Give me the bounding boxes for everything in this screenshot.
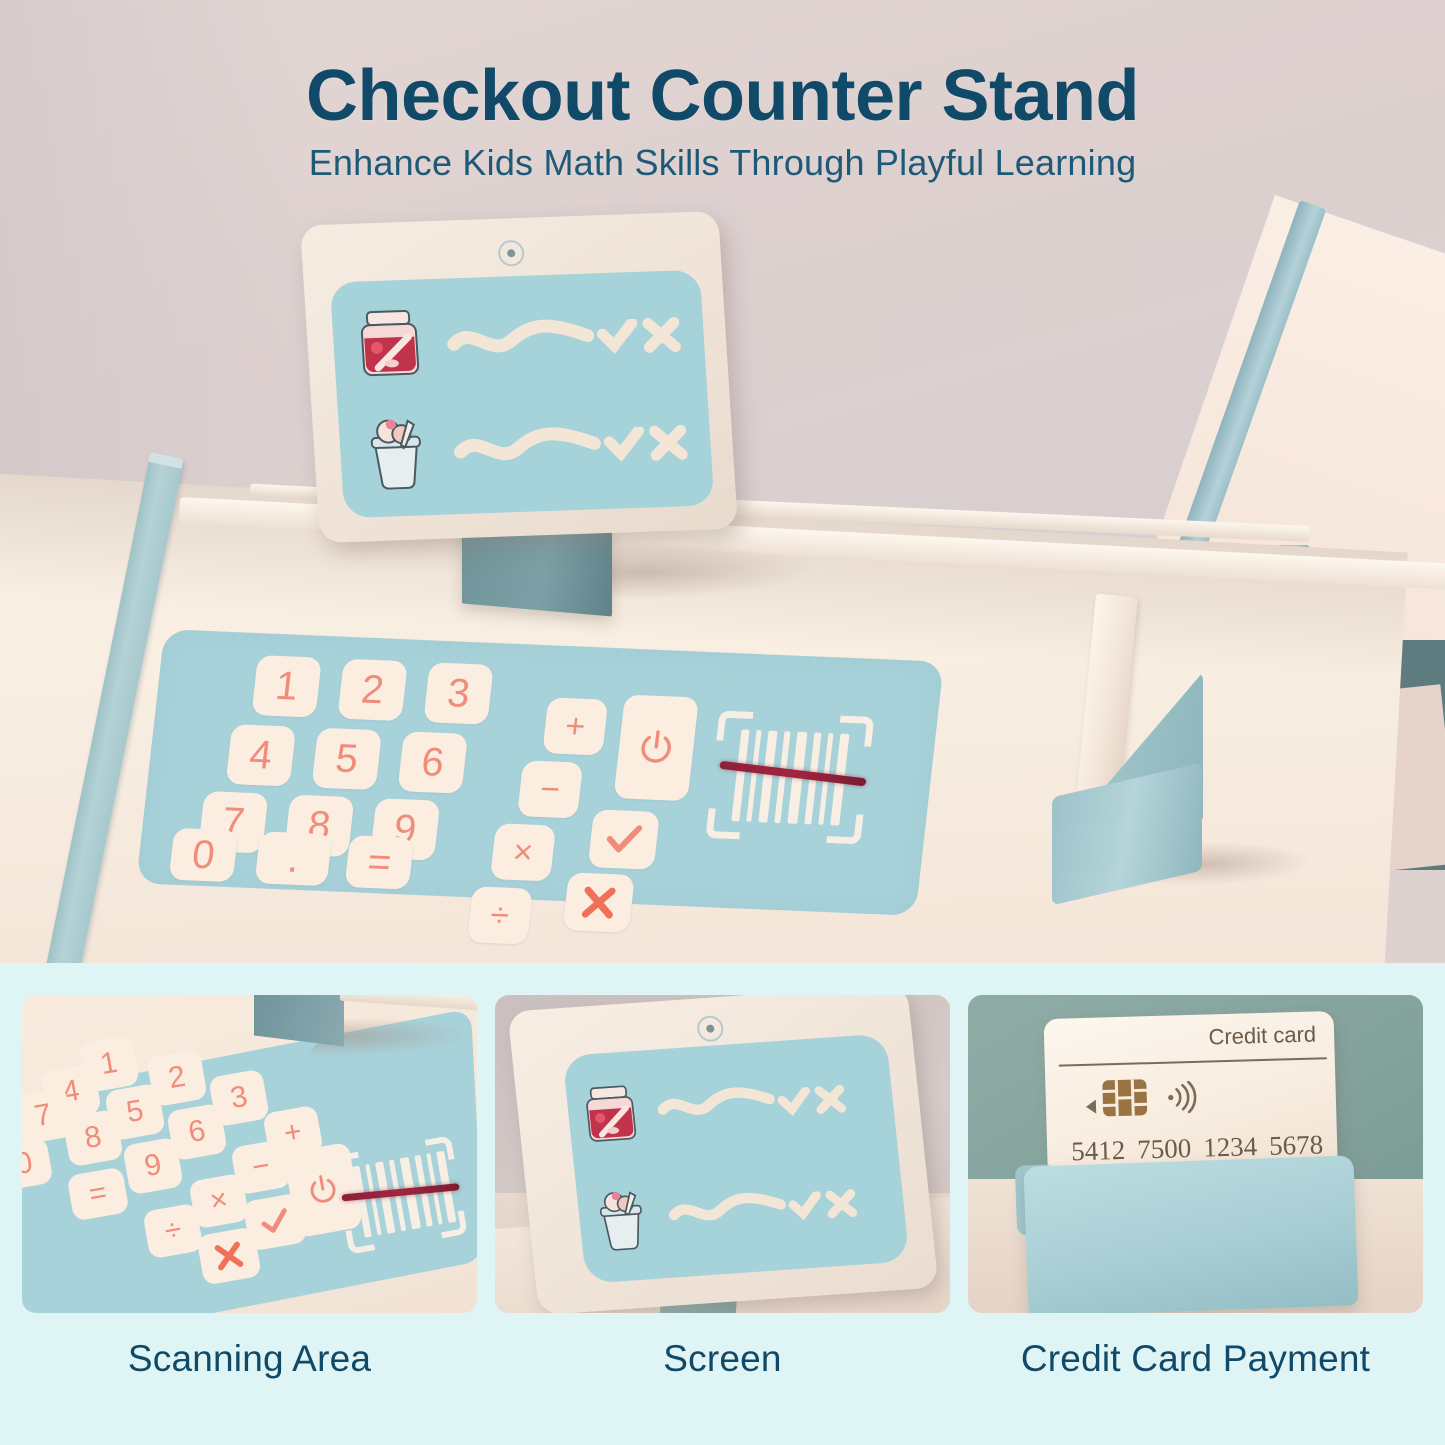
hero-photo: 1 2 3 4 5 6 7 8 9 0 . = + − × ÷	[0, 0, 1445, 963]
thumbnail-screen[interactable]	[495, 995, 950, 1313]
x-mark-icon	[639, 316, 685, 353]
caption-credit-card-payment: Credit Card Payment	[968, 1338, 1423, 1380]
emv-chip-icon	[1101, 1078, 1148, 1122]
t2-register-screen	[507, 995, 938, 1313]
check-mark-icon	[595, 319, 641, 354]
credit-card-rule	[1059, 1057, 1327, 1066]
feature-strip: 1 2 3 4 5 6 7 8 9 0 = + − × ÷	[0, 963, 1445, 1445]
jam-jar-icon	[572, 1081, 650, 1148]
price-squiggle	[451, 425, 603, 470]
camera-dot-icon	[696, 1015, 725, 1043]
price-squiggle	[444, 317, 596, 362]
t1-key-8: 8	[62, 1109, 124, 1168]
cancel-button[interactable]	[562, 872, 634, 933]
thumbnail-credit-card-payment[interactable]: Credit card	[968, 995, 1423, 1313]
page-subtitle: Enhance Kids Math Skills Through Playful…	[0, 142, 1445, 184]
confirm-button[interactable]	[588, 809, 660, 870]
key-2[interactable]: 2	[337, 659, 408, 721]
card-holder	[1023, 1155, 1358, 1313]
cross-icon	[579, 885, 619, 920]
thumbnail-scanning-area[interactable]: 1 2 3 4 5 6 7 8 9 0 = + − × ÷	[22, 995, 477, 1313]
cross-icon	[212, 1240, 246, 1273]
page-title: Checkout Counter Stand	[0, 58, 1445, 136]
power-icon	[634, 727, 678, 769]
check-mark-icon	[775, 1087, 814, 1117]
key-5[interactable]: 5	[311, 728, 382, 790]
key-3[interactable]: 3	[423, 662, 494, 724]
screen-row	[574, 1147, 908, 1274]
check-icon	[602, 823, 646, 857]
contactless-icon	[1165, 1081, 1200, 1119]
ice-cream-cup-icon	[348, 414, 445, 491]
key-multiply[interactable]: ×	[490, 823, 556, 881]
screen-row	[337, 387, 714, 508]
key-6[interactable]: 6	[397, 731, 468, 793]
keypad-panel[interactable]: 1 2 3 4 5 6 7 8 9 0 . = + − × ÷	[136, 629, 944, 916]
power-button[interactable]	[613, 694, 699, 801]
card-number-group: 5412	[1071, 1135, 1126, 1167]
key-1[interactable]: 1	[251, 655, 322, 717]
caption-row: Scanning Area Screen Credit Card Payment	[22, 1338, 1423, 1380]
t2-screen-display	[562, 1033, 909, 1283]
x-mark-icon	[822, 1188, 861, 1220]
key-minus[interactable]: −	[517, 760, 583, 818]
key-decimal[interactable]: .	[255, 831, 333, 886]
x-mark-icon	[645, 424, 691, 461]
screen-row	[330, 279, 707, 400]
x-mark-icon	[811, 1083, 850, 1115]
check-mark-icon	[786, 1191, 825, 1221]
t1-key-9: 9	[122, 1137, 184, 1196]
thumbnail-row: 1 2 3 4 5 6 7 8 9 0 = + − × ÷	[22, 995, 1423, 1313]
caption-scanning-area: Scanning Area	[22, 1338, 477, 1380]
screen-display	[330, 270, 715, 518]
caption-screen: Screen	[495, 1338, 950, 1380]
register-screen[interactable]	[300, 211, 738, 543]
jam-jar-icon	[341, 306, 438, 383]
key-0[interactable]: 0	[169, 828, 239, 882]
t1-key-equals: =	[66, 1166, 129, 1221]
insert-arrow-icon	[1086, 1100, 1096, 1114]
camera-dot-icon	[497, 240, 525, 267]
t1-cancel-button	[196, 1226, 262, 1285]
key-plus[interactable]: +	[542, 697, 608, 755]
credit-card-label: Credit card	[1208, 1021, 1316, 1050]
screen-post-shadow	[581, 545, 829, 599]
check-icon	[257, 1206, 293, 1237]
barcode-scanner-icon[interactable]	[705, 710, 874, 844]
ice-cream-cup-icon	[583, 1186, 661, 1253]
check-mark-icon	[601, 427, 647, 462]
price-squiggle	[655, 1084, 779, 1131]
key-equals[interactable]: =	[344, 835, 414, 889]
price-squiggle	[666, 1188, 790, 1235]
t1-barcode-scanner-icon	[332, 1135, 468, 1254]
t1-key-divide: ÷	[142, 1203, 204, 1260]
key-4[interactable]: 4	[226, 724, 297, 786]
key-divide[interactable]: ÷	[467, 886, 533, 944]
